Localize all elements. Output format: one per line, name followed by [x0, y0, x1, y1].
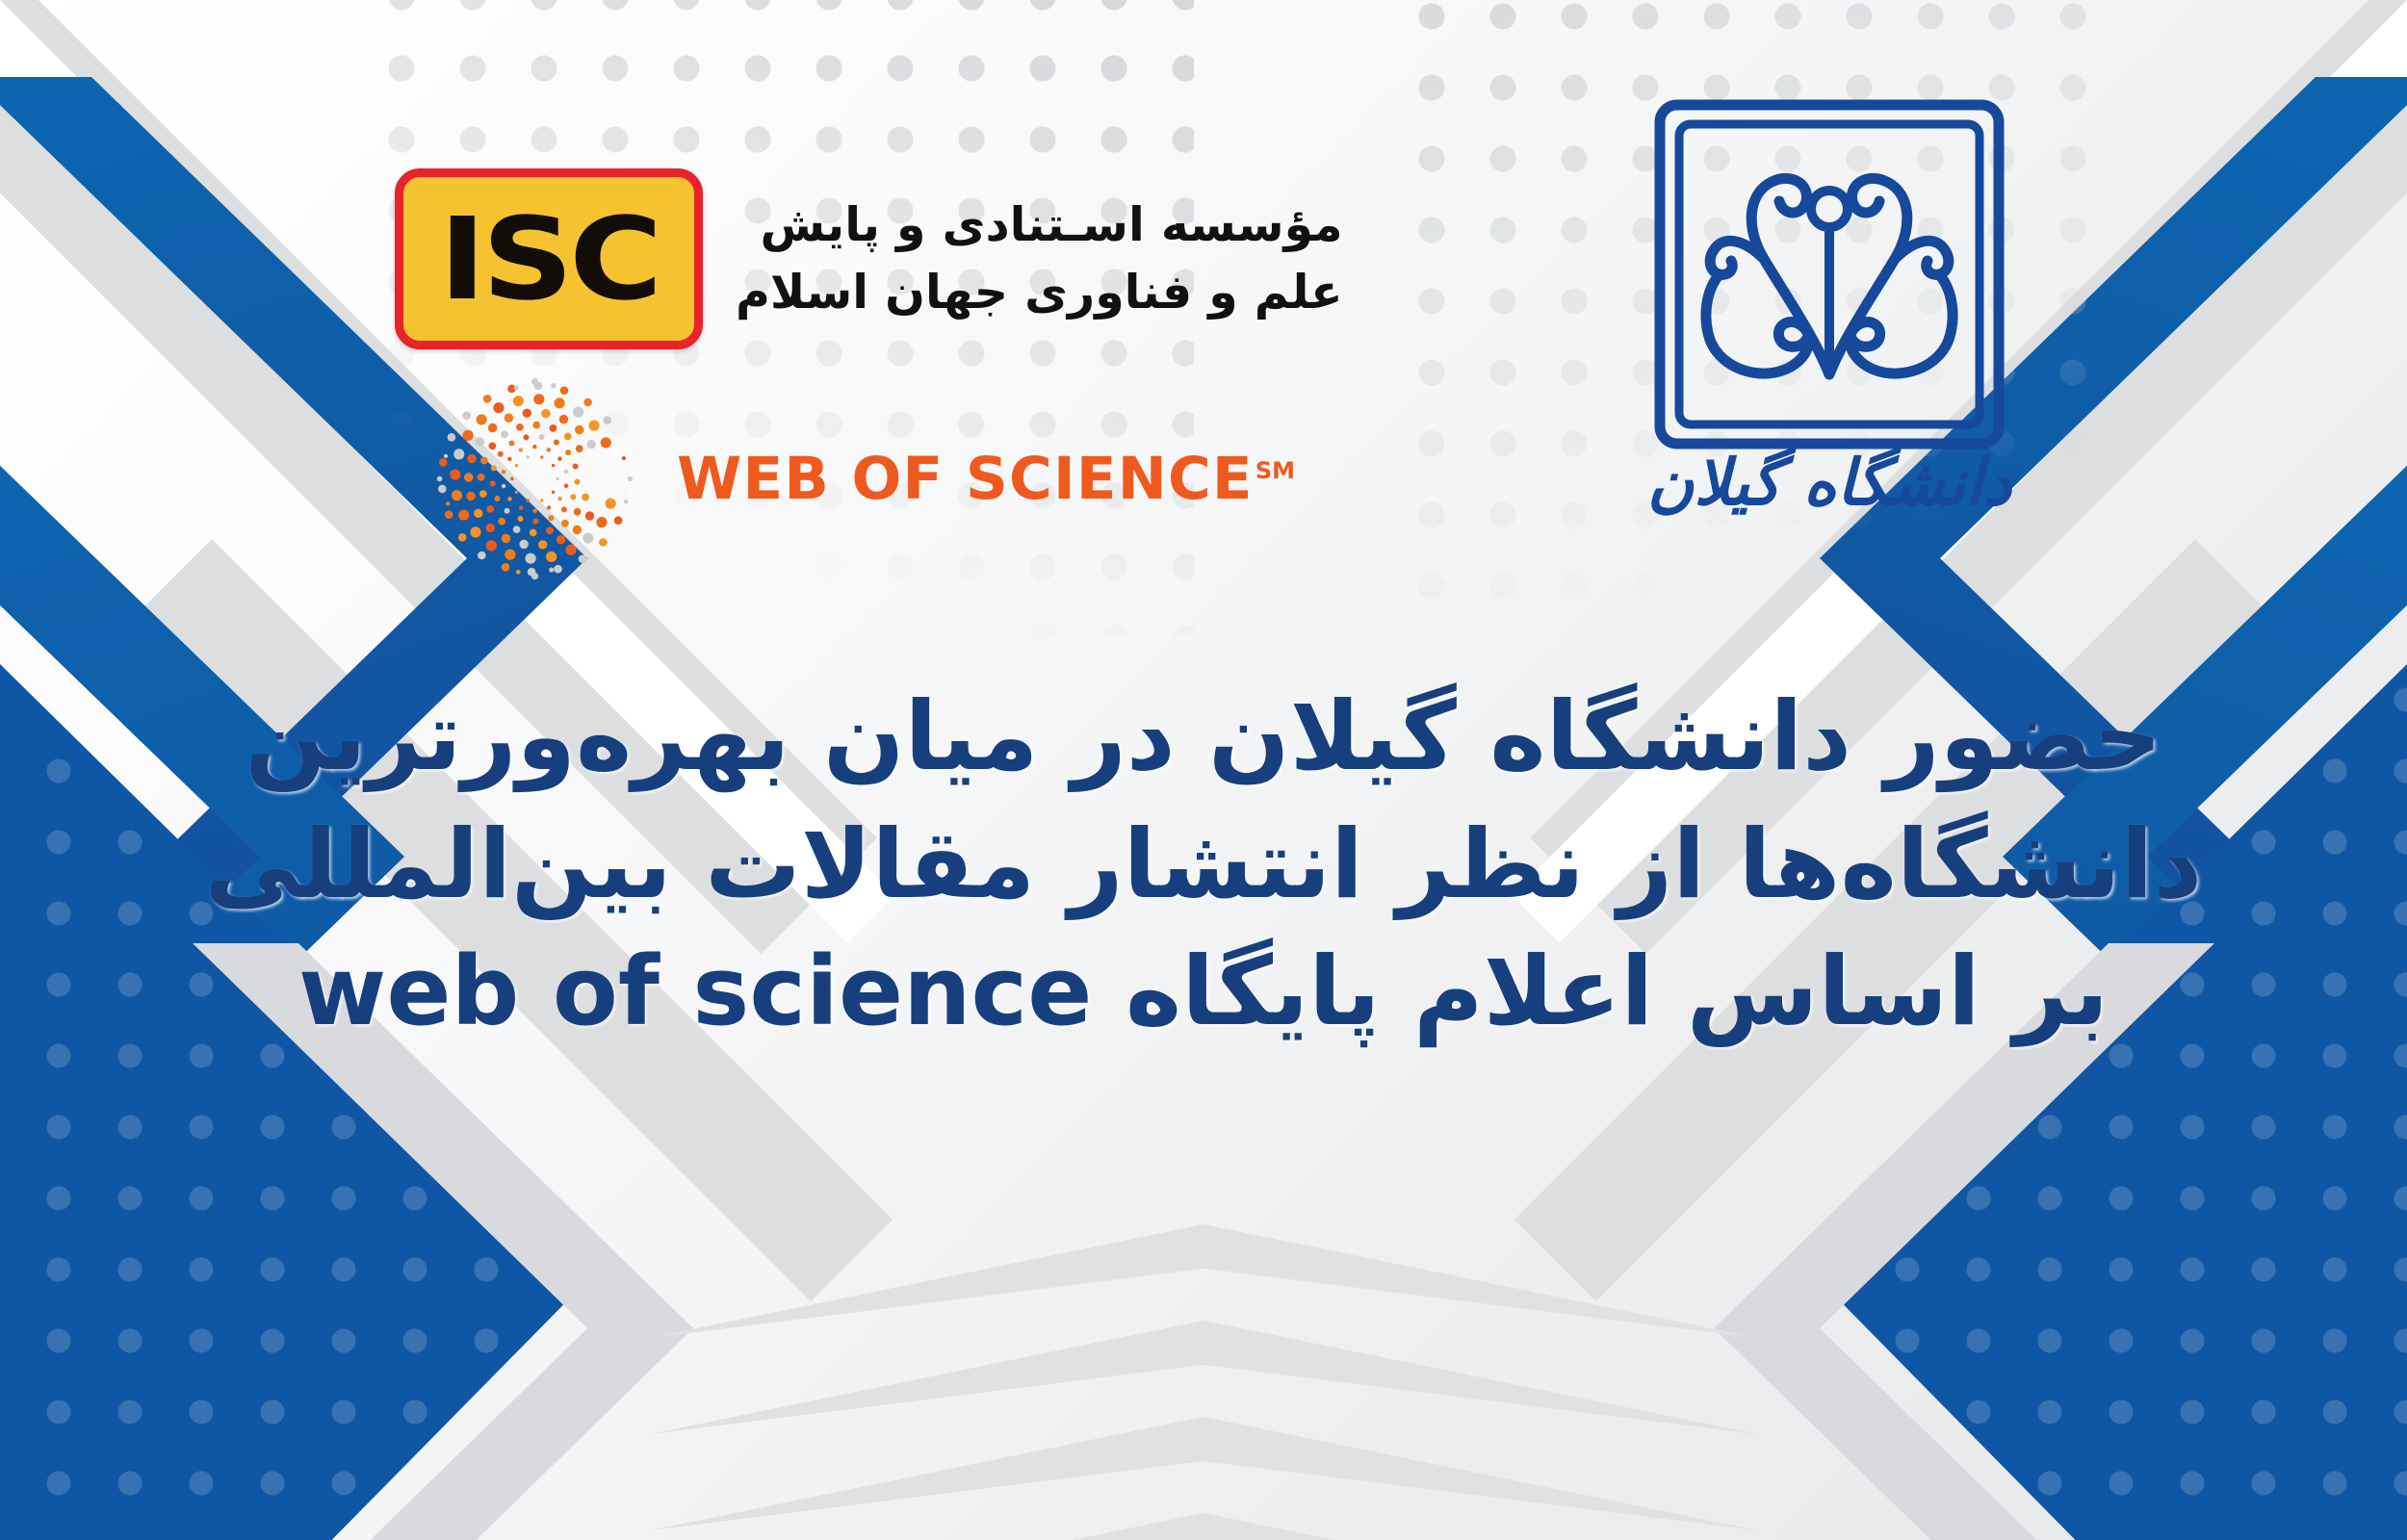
university-of-guilan-logo: دانشگاه گیلان [1627, 82, 2032, 520]
isc-logo-wordmark-fa: مؤسسه اسـتنادی و پایش علم و فناوری جهان … [736, 192, 1343, 325]
web-of-science-dot-spiral-icon [431, 375, 638, 582]
web-of-science-service-mark: SM [1255, 457, 1295, 484]
web-of-science-wordmark: WEB OF SCIENCESM [677, 445, 1295, 513]
isc-badge: ISC [395, 168, 703, 349]
poster-content: مؤسسه اسـتنادی و پایش علم و فناوری جهان … [0, 0, 2407, 1540]
isc-logo-line-2: علم و فناوری جهان اسلام [736, 259, 1343, 326]
isc-logo: مؤسسه اسـتنادی و پایش علم و فناوری جهان … [395, 168, 1343, 349]
headline-line-3: بر اساس اعلام پایگاه web of science [0, 929, 2407, 1057]
headline-line-2: دانشگاه‌ها از نظر انتشار مقالات بین‌المل… [0, 802, 2407, 930]
headline-block: حضور دانشگاه گیلان در میان بهره‌ورترین د… [0, 674, 2407, 1057]
isc-logo-line-1: مؤسسه اسـتنادی و پایش [736, 192, 1343, 259]
university-name: دانشگاه گیلان [1627, 446, 2032, 520]
web-of-science-logo: WEB OF SCIENCESM [431, 375, 1295, 582]
announcement-poster: مؤسسه اسـتنادی و پایش علم و فناوری جهان … [0, 0, 2407, 1540]
web-of-science-wordmark-text: WEB OF SCIENCE [677, 445, 1254, 513]
headline-line-1: حضور دانشگاه گیلان در میان بهره‌ورترین [0, 674, 2407, 802]
guilan-butterfly-emblem-icon [1637, 82, 2022, 467]
isc-badge-text: ISC [439, 202, 659, 316]
